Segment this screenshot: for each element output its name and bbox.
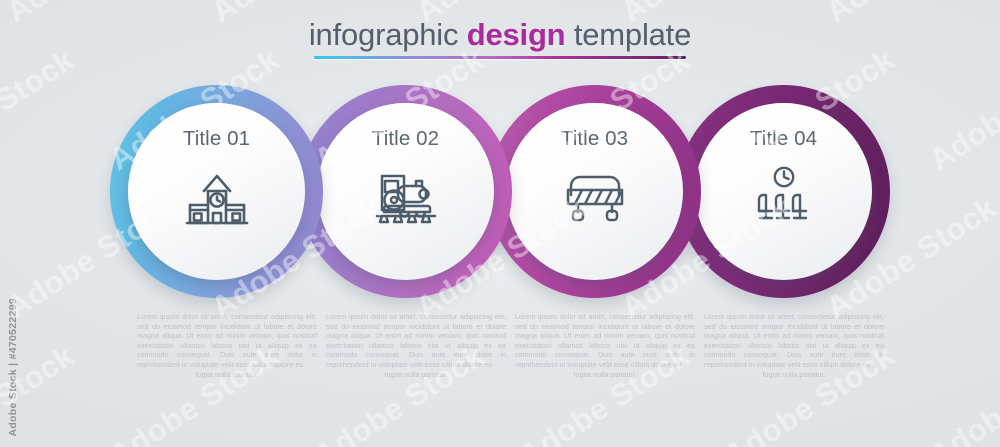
title-gradient-divider — [314, 56, 686, 59]
descriptions-row: Lorem ipsum dolor sit amet, consectetur … — [0, 313, 1000, 423]
step-card-3[interactable]: Title 03 — [488, 85, 701, 298]
steps-row: Title 01 — [0, 82, 1000, 312]
infographic-canvas: infographic design template Title 01 — [0, 0, 1000, 447]
page-title-emphasis: design — [467, 17, 566, 52]
step-description-1-text: Lorem ipsum dolor sit amet, consectetur … — [137, 313, 317, 371]
step-description-3-tail: fugiat nulla pariatur. — [515, 371, 695, 381]
page-title-part2: template — [565, 17, 691, 52]
steam-locomotive-icon — [370, 162, 442, 230]
train-station-building-icon — [181, 162, 253, 230]
step-card-1[interactable]: Title 01 — [110, 85, 323, 298]
step-description-4: Lorem ipsum dolor sit amet, consectetur … — [704, 313, 884, 380]
header: infographic design template — [0, 18, 1000, 59]
step-description-3-text: Lorem ipsum dolor sit amet, consectetur … — [515, 313, 695, 371]
road-barrier-icon — [559, 162, 631, 230]
step-title-2: Title 02 — [372, 128, 439, 150]
step-title-1: Title 01 — [183, 128, 250, 150]
step-description-4-tail: fugiat nulla pariatur. — [704, 371, 884, 381]
waiting-room-seats-clock-icon — [748, 162, 820, 230]
step-disc-3: Title 03 — [506, 103, 683, 280]
step-description-1-tail: fugiat nulla pariatur. — [137, 371, 317, 381]
page-title: infographic design template — [0, 18, 1000, 52]
page-title-part1: infographic — [309, 17, 467, 52]
step-disc-2: Title 02 — [317, 103, 494, 280]
step-card-2[interactable]: Title 02 — [299, 85, 512, 298]
step-disc-1: Title 01 — [128, 103, 305, 280]
step-description-2: Lorem ipsum dolor sit amet, consectetur … — [326, 313, 506, 380]
step-description-1: Lorem ipsum dolor sit amet, consectetur … — [137, 313, 317, 380]
step-description-3: Lorem ipsum dolor sit amet, consectetur … — [515, 313, 695, 380]
step-description-2-text: Lorem ipsum dolor sit amet, consectetur … — [326, 313, 506, 371]
step-description-2-tail: fugiat nulla pariatur. — [326, 371, 506, 381]
step-disc-4: Title 04 — [695, 103, 872, 280]
step-title-4: Title 04 — [750, 128, 817, 150]
step-card-4[interactable]: Title 04 — [677, 85, 890, 298]
step-description-4-text: Lorem ipsum dolor sit amet, consectetur … — [704, 313, 884, 371]
step-title-3: Title 03 — [561, 128, 628, 150]
